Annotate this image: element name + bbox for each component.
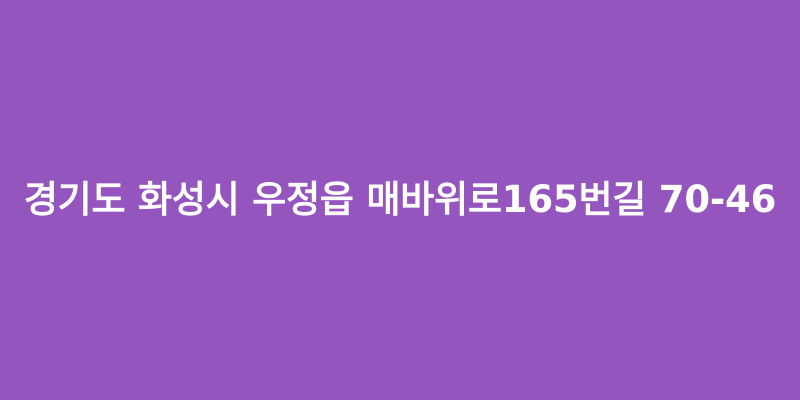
address-banner: 경기도 화성시 우정읍 매바위로165번길 70-46 <box>0 0 800 400</box>
address-text: 경기도 화성시 우정읍 매바위로165번길 70-46 <box>24 180 776 221</box>
